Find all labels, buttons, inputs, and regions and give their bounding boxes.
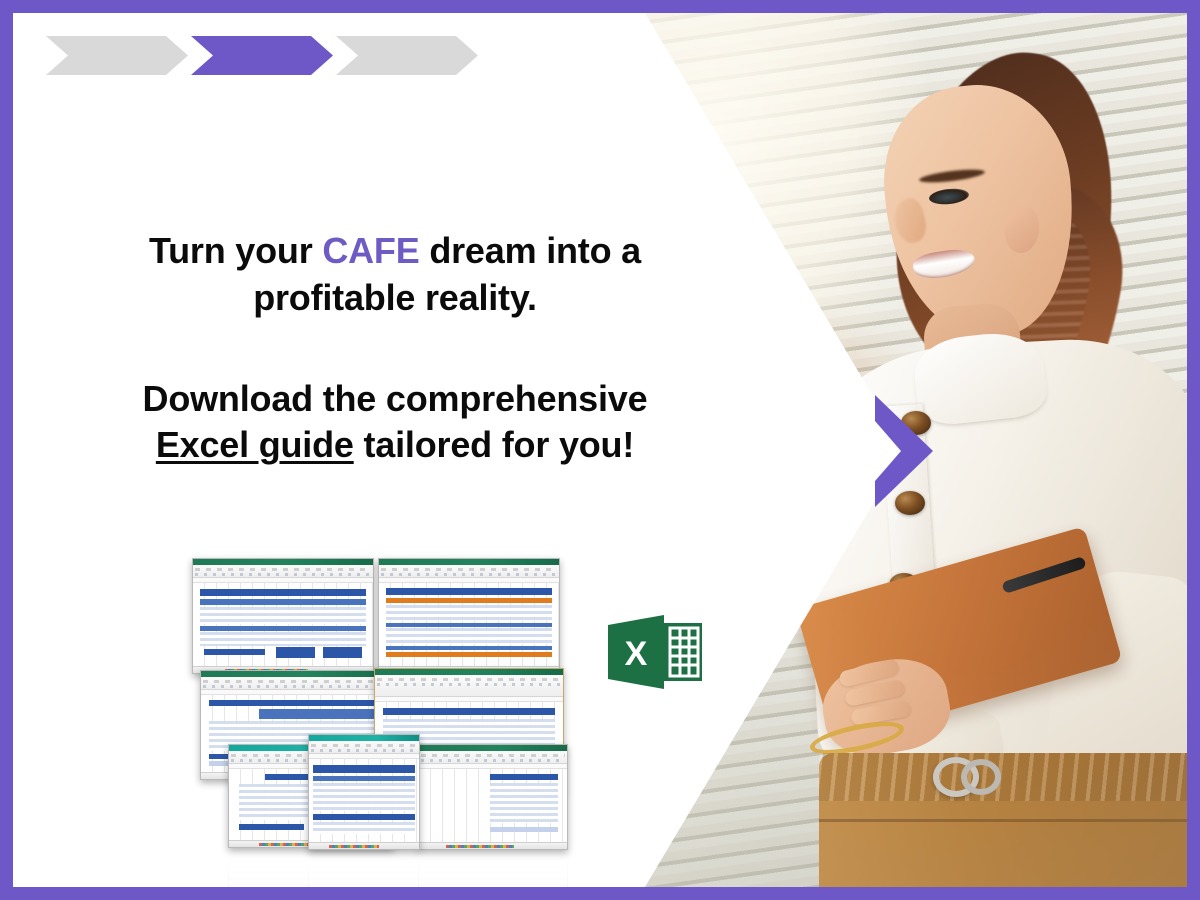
data-rows: [386, 605, 552, 621]
headline-line-1: Turn your CAFE dream into a profitable r…: [100, 228, 690, 322]
headline-text-part: tailored for you!: [354, 424, 634, 465]
headline-line-2: Download the comprehensive Excel guide t…: [100, 376, 690, 470]
ribbon-toolbar: [193, 565, 373, 578]
section-band: [386, 646, 552, 650]
header-band: [313, 765, 414, 773]
headline-accent-word: CAFE: [322, 230, 419, 271]
spreadsheet-thumbnail[interactable]: [308, 734, 420, 850]
section-band: [386, 623, 552, 627]
accent-band: [386, 652, 552, 657]
header-band: [490, 774, 558, 780]
ribbon-toolbar: [201, 677, 395, 690]
ribbon-toolbar: [419, 751, 567, 764]
footer-band: [490, 827, 558, 832]
spreadsheet-thumbnail[interactable]: [418, 744, 568, 850]
belt-ring: [961, 759, 1001, 795]
reflection-body: [309, 859, 419, 887]
reflection-sheet: [418, 861, 568, 887]
ribbon-toolbar: [375, 675, 563, 697]
subheader-band: [200, 599, 366, 605]
button-block: [276, 647, 316, 658]
subheader-band: [259, 709, 387, 719]
status-bar: [419, 842, 567, 849]
marketing-slide: Turn your CAFE dream into a profitable r…: [0, 0, 1200, 900]
slide-canvas: Turn your CAFE dream into a profitable r…: [13, 13, 1187, 887]
chevron-step-3[interactable]: [336, 36, 478, 75]
waist-gathers: [819, 753, 1187, 801]
data-rows: [313, 822, 414, 834]
headline-text-part: Turn your: [149, 230, 322, 271]
sheet-grid: [379, 583, 559, 668]
collage-reflection: [178, 859, 578, 887]
subheader-band: [313, 776, 414, 781]
header-band: [200, 589, 366, 596]
header-band: [386, 588, 552, 595]
progress-chevrons: [46, 36, 481, 75]
data-rows: [386, 628, 552, 644]
reflection-body: [419, 859, 567, 887]
trouser-seam: [819, 819, 1187, 822]
ribbon-toolbar: [309, 741, 419, 754]
excel-logo-icon: X: [606, 609, 704, 695]
button-block: [323, 647, 363, 658]
sheet-grid: [193, 583, 373, 668]
data-rows: [200, 632, 366, 646]
total-band: [313, 814, 414, 820]
headline-block: Turn your CAFE dream into a profitable r…: [100, 228, 690, 469]
data-rows: [313, 783, 414, 811]
header-band: [383, 708, 556, 715]
accent-band: [386, 598, 552, 603]
total-band: [239, 824, 305, 830]
excel-logo-letter: X: [625, 635, 648, 673]
chevron-step-2[interactable]: [191, 36, 333, 75]
section-band: [200, 626, 366, 631]
data-rows: [200, 607, 366, 624]
header-band: [209, 700, 388, 706]
sheet-grid: [309, 759, 419, 845]
total-band: [204, 649, 265, 655]
ribbon-toolbar: [379, 565, 559, 578]
spreadsheet-thumbnail[interactable]: [192, 558, 374, 674]
excel-templates-collage: [178, 548, 578, 858]
headline-text-part: Download the comprehensive: [143, 378, 648, 419]
chevron-step-1[interactable]: [46, 36, 188, 75]
reflection-sheet: [308, 861, 420, 887]
sheet-grid: [419, 769, 567, 845]
status-bar: [309, 842, 419, 849]
headline-underlined-word: Excel guide: [156, 424, 354, 465]
data-rows: [490, 783, 558, 823]
purple-accent-arrow: [871, 395, 933, 507]
spreadsheet-thumbnail[interactable]: [378, 558, 560, 674]
